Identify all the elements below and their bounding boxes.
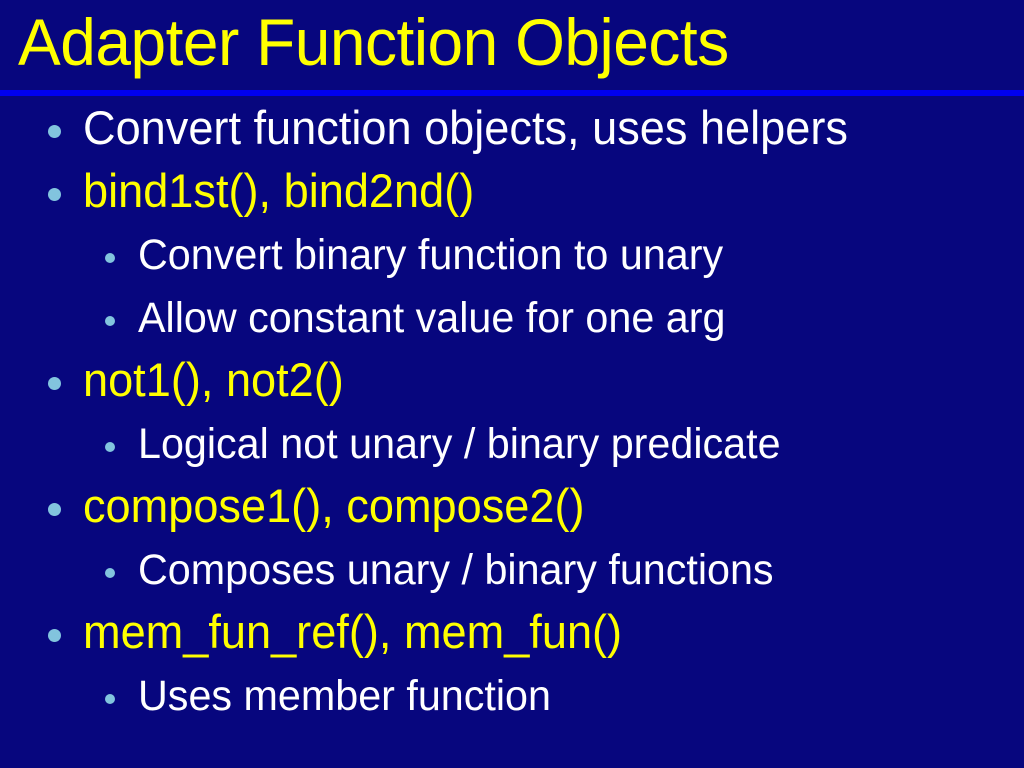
sub-bullet-text: Allow constant value for one arg [138, 287, 725, 350]
bullet-text: compose1(), compose2() [83, 474, 585, 537]
bullet-text: mem_fun_ref(), mem_fun() [83, 600, 622, 663]
sub-bullet-line: Convert binary function to unary [0, 225, 1024, 288]
bullet-point-icon [48, 125, 61, 138]
sub-bullet-line: Logical not unary / binary predicate [0, 414, 1024, 477]
bullet-text: Convert function objects, uses helpers [83, 96, 848, 159]
bullet-point-icon [48, 377, 61, 390]
sub-bullet-line: Uses member function [0, 666, 1024, 729]
bullet-point-icon [48, 188, 61, 201]
sub-bullet-text: Logical not unary / binary predicate [138, 413, 781, 476]
sub-bullet-text: Composes unary / binary functions [138, 539, 774, 602]
sub-bullet-line: Composes unary / binary functions [0, 540, 1024, 603]
bullet-point-icon [105, 253, 115, 263]
page-title: Adapter Function Objects [18, 2, 729, 82]
presentation-slide: Adapter Function Objects Convert functio… [0, 0, 1024, 768]
bullet-point-icon [105, 568, 115, 578]
sub-bullet-text: Uses member function [138, 665, 551, 728]
bullet-line: bind1st(), bind2nd() [0, 162, 1024, 225]
slide-body-bullet-list: Convert function objects, uses helpers b… [0, 99, 1024, 768]
sub-bullet-text: Convert binary function to unary [138, 224, 723, 287]
bullet-point-icon [48, 503, 61, 516]
slide-title-area: Adapter Function Objects [0, 0, 1024, 94]
bullet-text: bind1st(), bind2nd() [83, 159, 474, 222]
sub-bullet-line: Allow constant value for one arg [0, 288, 1024, 351]
bullet-point-icon [48, 629, 61, 642]
bullet-point-icon [105, 694, 115, 704]
bullet-point-icon [105, 442, 115, 452]
bullet-line: mem_fun_ref(), mem_fun() [0, 603, 1024, 666]
bullet-line: compose1(), compose2() [0, 477, 1024, 540]
bullet-text: not1(), not2() [83, 348, 344, 411]
bullet-line: Convert function objects, uses helpers [0, 99, 1024, 162]
bullet-line: not1(), not2() [0, 351, 1024, 414]
bullet-point-icon [105, 316, 115, 326]
